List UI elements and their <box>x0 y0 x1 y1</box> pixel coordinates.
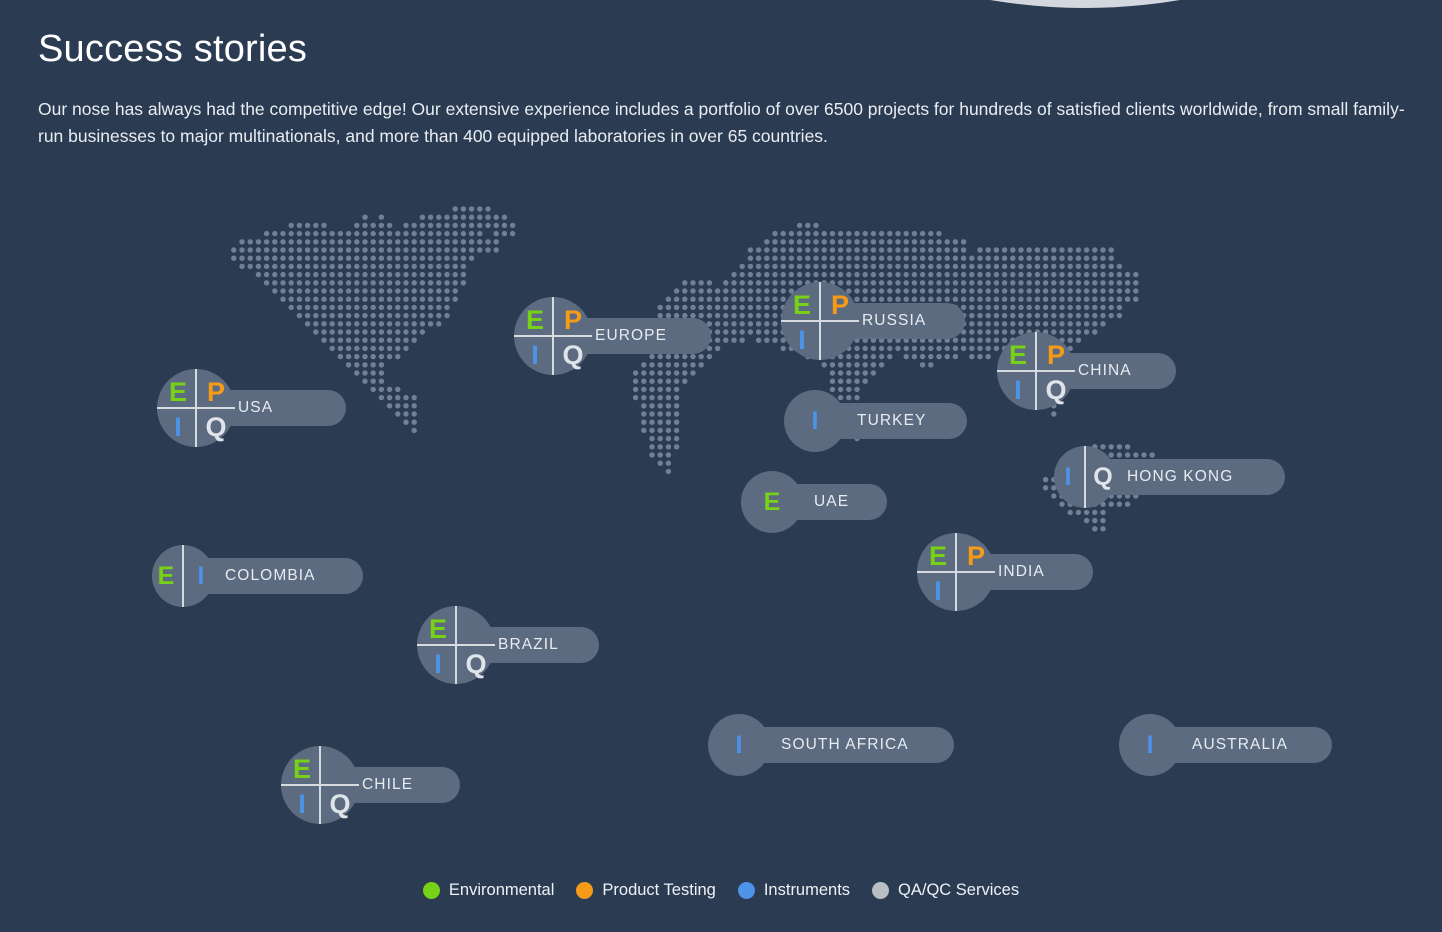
legend-label: Instruments <box>764 881 850 900</box>
service-glyph-i: I <box>1003 377 1033 404</box>
legend-label: Environmental <box>449 881 554 900</box>
marker-label-text: CHINA <box>1078 362 1132 380</box>
service-glyph-q: Q <box>1041 377 1071 404</box>
service-glyph-q: Q <box>325 791 355 818</box>
service-glyph-e: E <box>423 616 453 643</box>
legend-item-instruments[interactable]: Instruments <box>738 881 850 900</box>
marker-divider-vertical <box>455 606 457 684</box>
marker-label-text: SOUTH AFRICA <box>781 736 909 754</box>
marker-label-pill-south-africa[interactable]: SOUTH AFRICA <box>739 727 954 763</box>
marker-label-text: COLOMBIA <box>225 567 316 585</box>
page-title: Success stories <box>38 26 1418 74</box>
legend: EnvironmentalProduct TestingInstrumentsQ… <box>0 881 1442 900</box>
marker-divider-vertical <box>1035 332 1037 410</box>
service-glyph-q: Q <box>461 651 491 678</box>
world-map-container: USAEPIQEUROPEEPIQRUSSIAEPICHINAEPIQTURKE… <box>0 195 1442 855</box>
service-glyph-q: Q <box>201 414 231 441</box>
legend-label: Product Testing <box>602 881 715 900</box>
marker-divider-vertical <box>552 297 554 375</box>
service-glyph-p: P <box>961 543 991 570</box>
service-glyph-i: I <box>287 791 317 818</box>
marker-label-text: INDIA <box>998 563 1045 581</box>
service-glyph-q: Q <box>1089 465 1117 490</box>
marker-label-text: RUSSIA <box>862 312 926 330</box>
legend-item-environmental[interactable]: Environmental <box>423 881 554 900</box>
service-glyph-e: E <box>520 307 550 334</box>
marker-label-text: HONG KONG <box>1127 468 1233 486</box>
legend-label: QA/QC Services <box>898 881 1019 900</box>
service-glyph-e: E <box>758 490 786 515</box>
marker-label-text: EUROPE <box>595 327 667 345</box>
service-glyph-e: E <box>1003 342 1033 369</box>
service-glyph-p: P <box>201 379 231 406</box>
service-glyph-i: I <box>423 651 453 678</box>
service-glyph-p: P <box>558 307 588 334</box>
marker-label-text: TURKEY <box>857 412 926 430</box>
legend-item-product-testing[interactable]: Product Testing <box>576 881 715 900</box>
legend-color-dot <box>576 882 593 899</box>
service-glyph-i: I <box>1136 733 1164 758</box>
service-glyph-e: E <box>287 756 317 783</box>
marker-divider-vertical <box>182 545 184 607</box>
service-glyph-e: E <box>923 543 953 570</box>
legend-item-qa-qc-services[interactable]: QA/QC Services <box>872 881 1019 900</box>
marker-divider-vertical <box>319 746 321 824</box>
service-glyph-i: I <box>801 409 829 434</box>
marker-divider-vertical <box>955 533 957 611</box>
service-glyph-i: I <box>923 578 953 605</box>
service-glyph-e: E <box>152 564 180 589</box>
service-glyph-e: E <box>787 292 817 319</box>
marker-label-text: BRAZIL <box>498 636 559 654</box>
legend-color-dot <box>423 882 440 899</box>
marker-divider-vertical <box>1084 446 1086 508</box>
marker-label-text: USA <box>238 399 273 417</box>
top-curve-shape <box>878 0 1292 8</box>
legend-color-dot <box>738 882 755 899</box>
service-glyph-i: I <box>520 342 550 369</box>
legend-color-dot <box>872 882 889 899</box>
marker-divider-vertical <box>819 282 821 360</box>
service-glyph-i: I <box>187 564 215 589</box>
marker-label-text: CHILE <box>362 776 413 794</box>
service-glyph-i: I <box>1054 465 1082 490</box>
page-header: Success stories Our nose has always had … <box>38 26 1418 150</box>
marker-label-text: AUSTRALIA <box>1192 736 1288 754</box>
service-glyph-e: E <box>163 379 193 406</box>
service-glyph-p: P <box>825 292 855 319</box>
service-glyph-i: I <box>787 327 817 354</box>
service-glyph-q: Q <box>558 342 588 369</box>
marker-label-text: UAE <box>814 493 849 511</box>
service-glyph-i: I <box>163 414 193 441</box>
service-glyph-i: I <box>725 733 753 758</box>
intro-paragraph: Our nose has always had the competitive … <box>38 96 1413 150</box>
service-glyph-p: P <box>1041 342 1071 369</box>
marker-divider-vertical <box>195 369 197 447</box>
